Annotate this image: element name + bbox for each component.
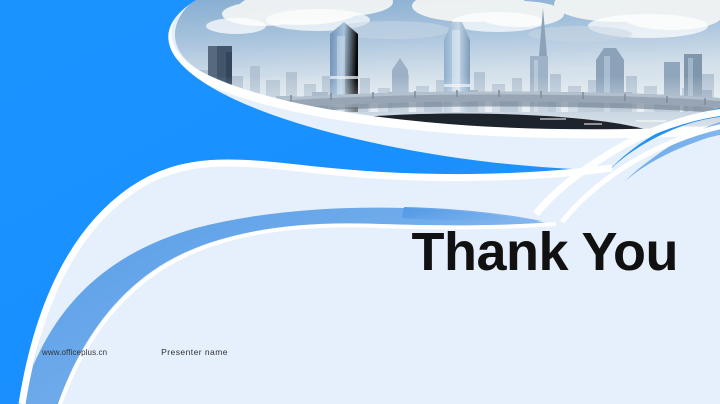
slide-background-artwork	[0, 0, 720, 404]
thank-you-headline: Thank You	[411, 225, 678, 279]
slide-canvas: Thank You www.officeplus.cn Presenter na…	[0, 0, 720, 404]
slide-footer: www.officeplus.cn Presenter name	[42, 347, 228, 357]
footer-presenter-name: Presenter name	[161, 347, 228, 357]
footer-website-link[interactable]: www.officeplus.cn	[42, 348, 107, 357]
